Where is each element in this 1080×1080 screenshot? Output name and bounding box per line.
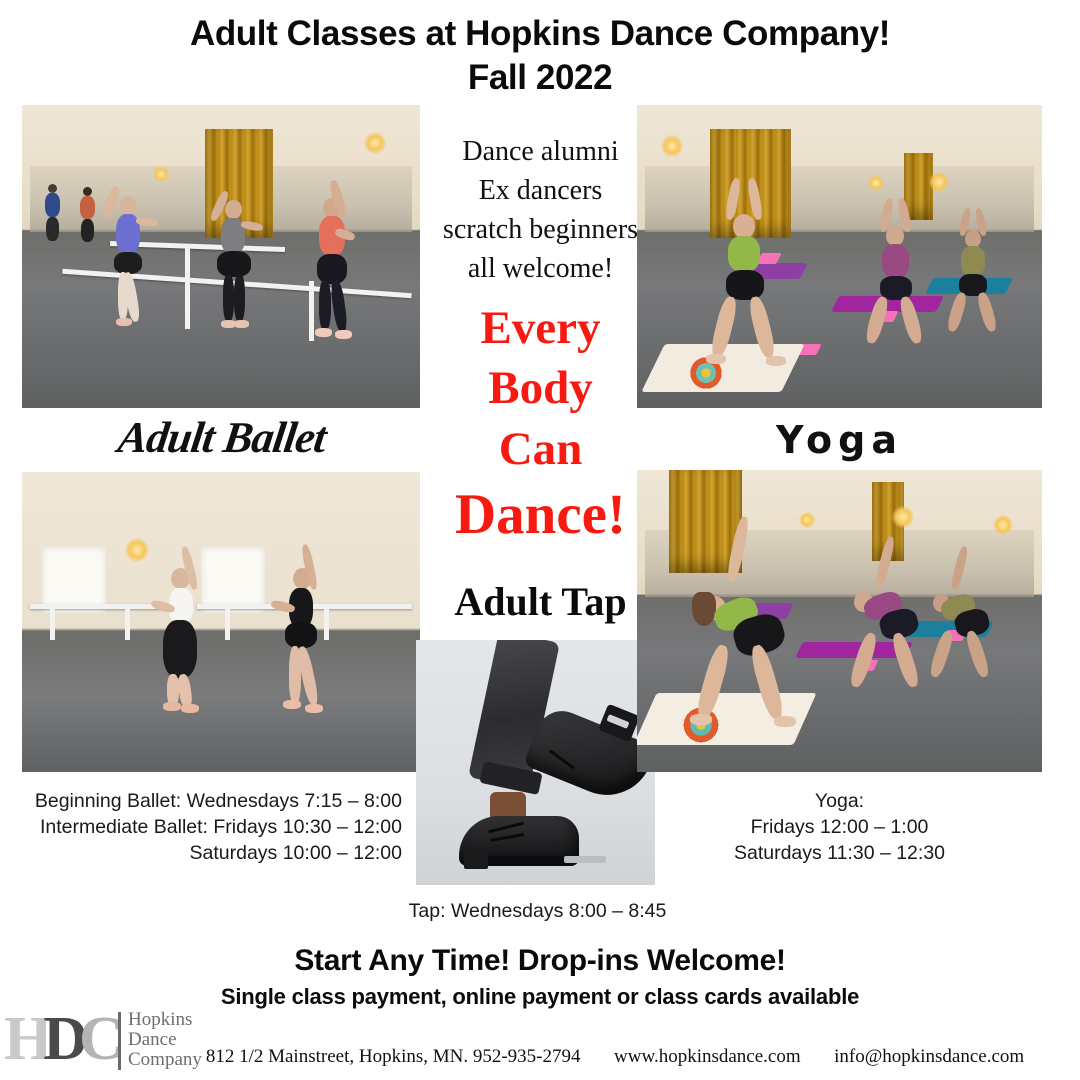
- slogan-word-body: Body: [423, 365, 658, 412]
- schedule-yoga-line-1: Yoga:: [637, 788, 1042, 814]
- photo-tap-shoes: [416, 640, 655, 885]
- cta-headline: Start Any Time! Drop-ins Welcome!: [0, 944, 1080, 978]
- footer-website[interactable]: www.hopkinsdance.com: [614, 1046, 801, 1068]
- schedule-yoga-line-3: Saturdays 11:30 – 12:30: [637, 840, 1042, 866]
- schedule-tap: Tap: Wednesdays 8:00 – 8:45: [395, 898, 680, 924]
- welcome-line-2: Ex dancers: [423, 171, 658, 210]
- logo-word-hopkins: Hopkins: [128, 1010, 202, 1030]
- photo-ballet-center: [22, 472, 420, 772]
- label-adult-tap: Adult Tap: [423, 578, 658, 625]
- slogan-word-can: Can: [423, 426, 658, 473]
- slogan-word-every: Every: [423, 305, 658, 352]
- page-title-line-2: Fall 2022: [0, 58, 1080, 98]
- schedule-ballet-line-2: Intermediate Ballet: Fridays 10:30 – 12:…: [22, 814, 402, 840]
- footer-address: 812 1/2 Mainstreet, Hopkins, MN. 952-935…: [206, 1046, 581, 1068]
- page-title-line-1: Adult Classes at Hopkins Dance Company!: [0, 14, 1080, 54]
- welcome-line-3: scratch beginners: [423, 210, 658, 249]
- schedule-ballet-line-1: Beginning Ballet: Wednesdays 7:15 – 8:00: [22, 788, 402, 814]
- footer-email[interactable]: info@hopkinsdance.com: [834, 1046, 1024, 1068]
- slogan-word-dance: Dance!: [423, 486, 658, 543]
- schedule-yoga: Yoga: Fridays 12:00 – 1:00 Saturdays 11:…: [637, 788, 1042, 866]
- schedule-yoga-line-2: Fridays 12:00 – 1:00: [637, 814, 1042, 840]
- schedule-ballet: Beginning Ballet: Wednesdays 7:15 – 8:00…: [22, 788, 402, 866]
- schedule-ballet-line-3: Saturdays 10:00 – 12:00: [22, 840, 402, 866]
- welcome-line-4: all welcome!: [423, 249, 658, 288]
- welcome-text-block: Dance alumni Ex dancers scratch beginner…: [423, 132, 658, 288]
- photo-yoga-triangle: [637, 470, 1042, 772]
- schedule-tap-line-1: Tap: Wednesdays 8:00 – 8:45: [395, 898, 680, 924]
- label-yoga: Yoga: [637, 418, 1042, 462]
- cta-subtext: Single class payment, online payment or …: [0, 984, 1080, 1010]
- footer-contact-line: 812 1/2 Mainstreet, Hopkins, MN. 952-935…: [0, 1046, 1080, 1068]
- photo-ballet-barre: [22, 105, 420, 408]
- welcome-line-1: Dance alumni: [423, 132, 658, 171]
- flyer-canvas: Adult Classes at Hopkins Dance Company! …: [0, 0, 1080, 1080]
- photo-yoga-warrior: [637, 105, 1042, 408]
- label-adult-ballet: Adult Ballet: [18, 412, 425, 463]
